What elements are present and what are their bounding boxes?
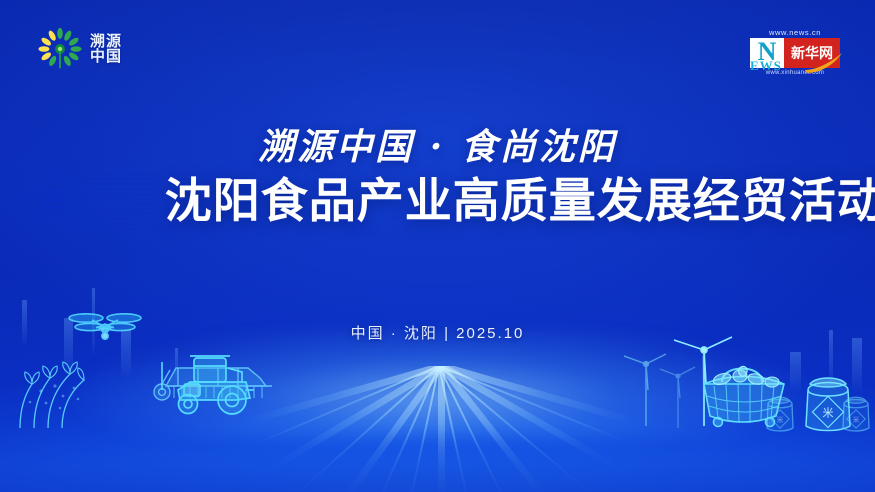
title-row: 2 0 2 5 沈阳食品产业高质量发展经贸活动 xyxy=(0,170,875,232)
decor-bar xyxy=(852,338,862,394)
xinhua-news-logo[interactable]: www.news.cn N 新华网 EWS www.xinhuanet.com xyxy=(750,28,840,76)
year-digit-2-zero: 0 xyxy=(31,170,72,232)
suyuan-wordmark: 溯源 中国 xyxy=(90,34,122,65)
poster-title: 沈阳食品产业高质量发展经贸活动 xyxy=(165,178,875,225)
year-2025: 2 0 2 5 xyxy=(0,170,155,232)
xinhua-news-word: EWS xyxy=(750,58,796,74)
year-digit-1: 2 xyxy=(0,170,31,232)
globe-icon xyxy=(35,184,69,218)
poster-subtitle: 溯源中国 · 食尚沈阳 xyxy=(0,118,875,170)
logo-line-1: 溯源 xyxy=(90,34,122,49)
leaf-burst-icon xyxy=(38,27,82,71)
event-meta: 中国 · 沈阳 | 2025.10 xyxy=(0,322,875,343)
logo-line-2: 中国 xyxy=(90,49,122,64)
suyuan-zhongguo-logo[interactable]: 溯源 中国 xyxy=(38,27,122,71)
year-digit-4: 5 xyxy=(114,170,155,232)
year-digit-3: 2 xyxy=(73,170,114,232)
decor-bar xyxy=(175,348,178,382)
poster-canvas: 溯源 中国 www.news.cn N 新华网 EWS www.xinhuane… xyxy=(0,0,875,492)
xinhua-url-top: www.news.cn xyxy=(750,28,840,37)
decor-bar xyxy=(790,352,801,392)
decor-bar xyxy=(702,356,705,394)
perspective-floor xyxy=(0,366,875,492)
swoosh-icon xyxy=(804,52,844,74)
